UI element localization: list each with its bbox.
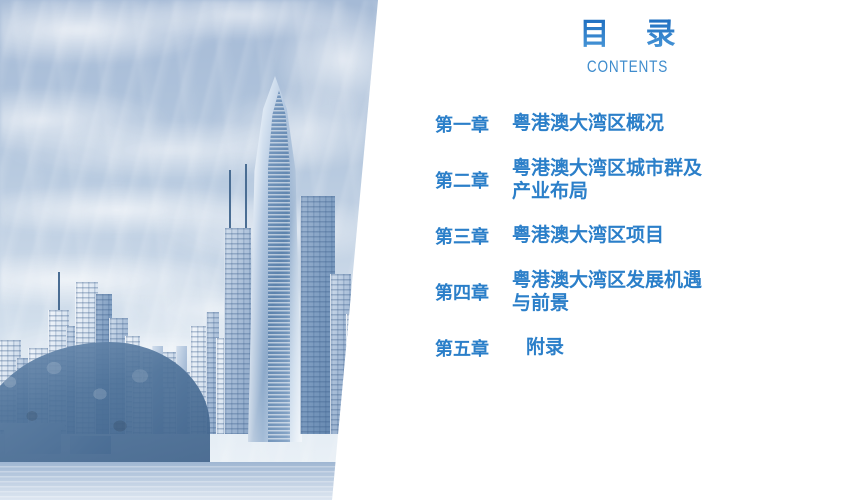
page-title: 目 录 xyxy=(390,18,865,51)
antenna-icon xyxy=(229,170,231,228)
toc-chapter-title: 粤港澳大湾区发展机遇 与前景 xyxy=(512,269,865,315)
antenna-icon xyxy=(58,272,60,310)
toc-chapter-number: 第二章 xyxy=(390,167,512,193)
toc-chapter-title: 粤港澳大湾区城市群及 产业布局 xyxy=(512,157,865,203)
water-ripples xyxy=(0,466,390,500)
toc-chapter-title: 粤港澳大湾区项目 xyxy=(512,224,865,247)
page-subtitle: CONTENTS xyxy=(438,57,818,77)
skyline-photo-panel xyxy=(0,0,390,500)
antenna-icon xyxy=(245,164,247,228)
content-column: 目 录 CONTENTS 第一章 粤港澳大湾区概况 第二章 粤港澳大湾区城市群及… xyxy=(390,0,865,500)
table-of-contents: 第一章 粤港澳大湾区概况 第二章 粤港澳大湾区城市群及 产业布局 第三章 粤港澳… xyxy=(390,96,865,376)
toc-item-3[interactable]: 第三章 粤港澳大湾区项目 xyxy=(390,208,865,264)
toc-chapter-title: 附录 xyxy=(512,336,865,359)
heading-block: 目 录 CONTENTS xyxy=(390,18,865,77)
toc-item-2[interactable]: 第二章 粤港澳大湾区城市群及 产业布局 xyxy=(390,152,865,208)
toc-chapter-number: 第四章 xyxy=(390,279,512,305)
toc-chapter-number: 第三章 xyxy=(390,223,512,249)
toc-item-5[interactable]: 第五章 附录 xyxy=(390,320,865,376)
toc-chapter-title: 粤港澳大湾区概况 xyxy=(512,112,865,135)
toc-chapter-number: 第一章 xyxy=(390,111,512,137)
toc-item-4[interactable]: 第四章 粤港澳大湾区发展机遇 与前景 xyxy=(390,264,865,320)
toc-item-1[interactable]: 第一章 粤港澳大湾区概况 xyxy=(390,96,865,152)
supertall-tower-highlight xyxy=(248,76,302,442)
toc-chapter-number: 第五章 xyxy=(390,335,512,361)
presentation-slide: 目 录 CONTENTS 第一章 粤港澳大湾区概况 第二章 粤港澳大湾区城市群及… xyxy=(0,0,865,500)
treeline xyxy=(0,408,390,470)
city-skyline xyxy=(0,0,390,500)
